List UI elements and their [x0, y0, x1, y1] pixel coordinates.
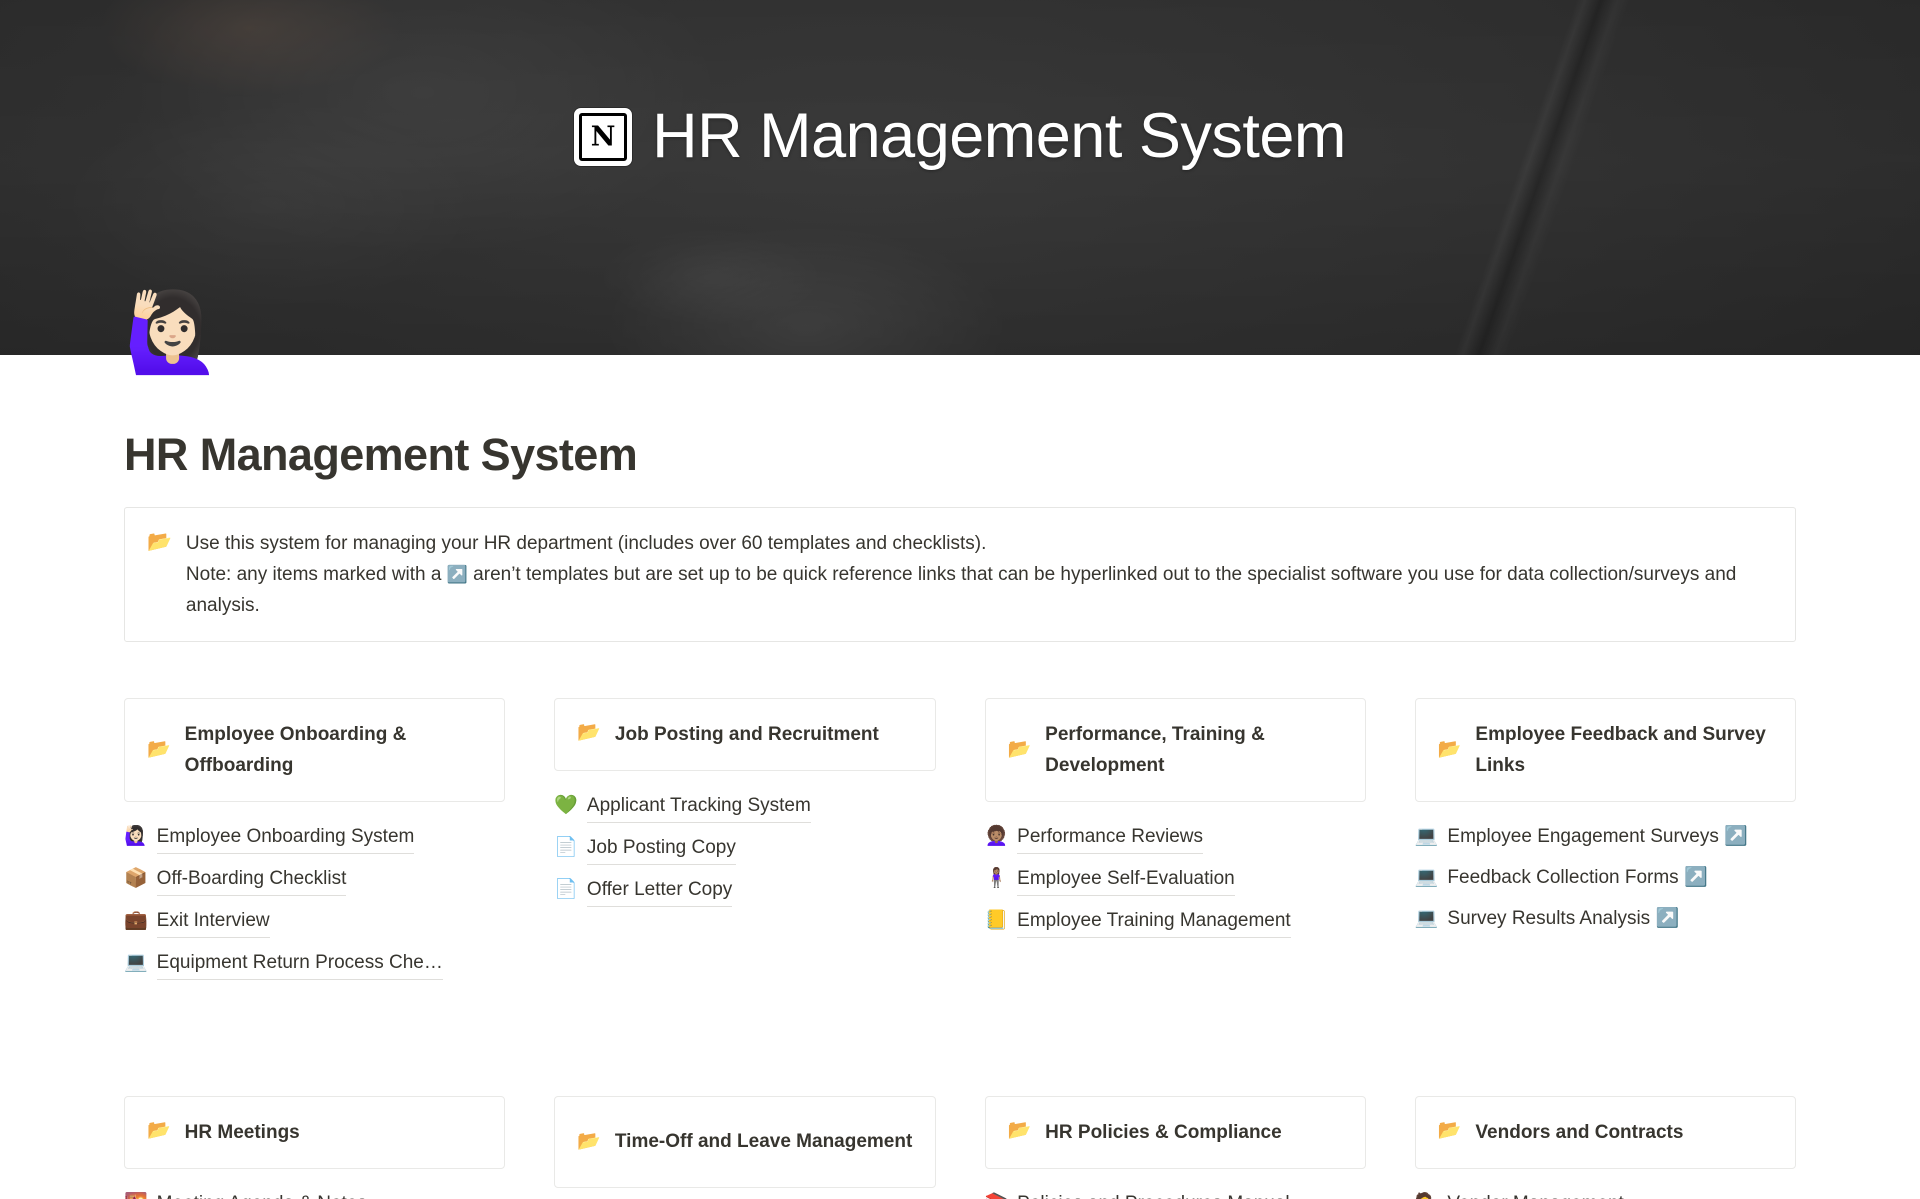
item-emoji-icon: 📒 — [985, 905, 1009, 937]
section-card-hr-policies-compliance[interactable]: 📂HR Policies & Compliance — [985, 1096, 1366, 1169]
row-spacer — [1415, 984, 1796, 1096]
page-link-applicant-tracking-system[interactable]: Applicant Tracking System — [587, 790, 811, 823]
section-block-time-off-and-leave-management: 📂Time-Off and Leave Management — [554, 1096, 935, 1199]
section-link-list: 🌇Meeting Agenda & Notes — [124, 1169, 505, 1199]
section-block-vendors-and-contracts: 📂Vendors and Contracts💁Vendor Management — [1415, 1096, 1796, 1199]
callout-line-2-before: Note: any items marked with a — [186, 564, 447, 585]
page-emoji-icon[interactable]: 🙋🏻‍♀️ — [124, 293, 221, 371]
section-block-performance-training-development: 📂Performance, Training & Development👩🏽‍🦱… — [985, 698, 1366, 984]
item-emoji-icon: 🙋🏻‍♀️ — [124, 821, 148, 853]
section-block-employee-onboarding-offboarding: 📂Employee Onboarding & Offboarding🙋🏻‍♀️E… — [124, 698, 505, 984]
folder-icon: 📂 — [1438, 1117, 1462, 1144]
section-card-employee-feedback-and-survey-links[interactable]: 📂Employee Feedback and Survey Links — [1415, 698, 1796, 802]
section-card-time-off-and-leave-management[interactable]: 📂Time-Off and Leave Management — [554, 1096, 935, 1188]
section-card-job-posting-and-recruitment[interactable]: 📂Job Posting and Recruitment — [554, 698, 935, 771]
page-link-employee-onboarding-system[interactable]: Employee Onboarding System — [157, 821, 415, 854]
item-emoji-icon: 📚 — [985, 1188, 1009, 1199]
page-link-feedback-collection-forms[interactable]: Feedback Collection Forms ↗️ — [1447, 862, 1707, 894]
cover-title: HR Management System — [652, 105, 1346, 168]
section-link-list: 💚Applicant Tracking System📄Job Posting C… — [554, 771, 935, 911]
cover-overlay — [0, 0, 1920, 355]
list-item[interactable]: 📄Job Posting Copy — [554, 827, 935, 869]
section-card-title: Vendors and Contracts — [1475, 1117, 1683, 1148]
page-link-exit-interview[interactable]: Exit Interview — [157, 905, 270, 938]
row-spacer — [554, 984, 935, 1096]
folder-icon: 📂 — [1008, 1117, 1032, 1144]
item-emoji-icon: 💁 — [1415, 1188, 1439, 1199]
item-emoji-icon: 💻 — [1415, 903, 1439, 935]
section-link-list: 👩🏽‍🦱Performance Reviews🧍🏽‍♀️Employee Sel… — [985, 802, 1366, 942]
item-emoji-icon: 📄 — [554, 832, 578, 864]
page-link-employee-engagement-surveys[interactable]: Employee Engagement Surveys ↗️ — [1447, 821, 1747, 853]
section-link-list: 🙋🏻‍♀️Employee Onboarding System📦Off-Boar… — [124, 802, 505, 984]
section-link-list: 💁Vendor Management — [1415, 1169, 1796, 1199]
list-item[interactable]: 💻Feedback Collection Forms ↗️ — [1415, 857, 1796, 898]
list-item[interactable]: 📒Employee Training Management — [985, 900, 1366, 942]
page-link-employee-self-evaluation[interactable]: Employee Self-Evaluation — [1017, 863, 1235, 896]
item-emoji-icon: 💻 — [124, 947, 148, 979]
page-link-off-boarding-checklist[interactable]: Off-Boarding Checklist — [157, 863, 347, 896]
page-title: HR Management System — [124, 429, 1796, 481]
item-emoji-icon: 👩🏽‍🦱 — [985, 821, 1009, 853]
notion-logo-icon: N — [574, 108, 632, 166]
section-link-list: 📚Policies and Procedures Manual — [985, 1169, 1366, 1199]
page-link-performance-reviews[interactable]: Performance Reviews — [1017, 821, 1203, 854]
folder-icon: 📂 — [1438, 736, 1462, 763]
page-link-equipment-return-process-che[interactable]: Equipment Return Process Che… — [157, 947, 443, 980]
list-item[interactable]: 🧍🏽‍♀️Employee Self-Evaluation — [985, 858, 1366, 900]
folder-icon: 📂 — [577, 719, 601, 746]
page-link-employee-training-management[interactable]: Employee Training Management — [1017, 905, 1291, 938]
callout-line-1: Use this system for managing your HR dep… — [186, 528, 1775, 559]
list-item[interactable]: 💁Vendor Management — [1415, 1183, 1796, 1199]
intro-callout: 📂 Use this system for managing your HR d… — [124, 507, 1796, 642]
section-block-job-posting-and-recruitment: 📂Job Posting and Recruitment💚Applicant T… — [554, 698, 935, 984]
folder-icon: 📂 — [147, 1117, 171, 1144]
cover-title-group: N HR Management System — [0, 105, 1920, 168]
page-link-survey-results-analysis[interactable]: Survey Results Analysis ↗️ — [1447, 903, 1679, 935]
section-card-title: Performance, Training & Development — [1045, 719, 1345, 781]
row-spacer — [985, 984, 1366, 1096]
section-card-performance-training-development[interactable]: 📂Performance, Training & Development — [985, 698, 1366, 802]
page-body: 🙋🏻‍♀️ HR Management System 📂 Use this sy… — [0, 355, 1920, 1199]
list-item[interactable]: 💼Exit Interview — [124, 900, 505, 942]
page-link-meeting-agenda-notes[interactable]: Meeting Agenda & Notes — [157, 1188, 367, 1199]
page-link-offer-letter-copy[interactable]: Offer Letter Copy — [587, 874, 732, 907]
list-item[interactable]: 🙋🏻‍♀️Employee Onboarding System — [124, 816, 505, 858]
list-item[interactable]: 💚Applicant Tracking System — [554, 785, 935, 827]
item-emoji-icon: 📦 — [124, 863, 148, 895]
list-item[interactable]: 💻Equipment Return Process Che… — [124, 942, 505, 984]
folder-icon: 📂 — [577, 1128, 601, 1155]
page-link-job-posting-copy[interactable]: Job Posting Copy — [587, 832, 736, 865]
list-item[interactable]: 👩🏽‍🦱Performance Reviews — [985, 816, 1366, 858]
list-item[interactable]: 📄Offer Letter Copy — [554, 869, 935, 911]
external-link-icon: ↗️ — [447, 565, 468, 584]
section-card-hr-meetings[interactable]: 📂HR Meetings — [124, 1096, 505, 1169]
section-card-vendors-and-contracts[interactable]: 📂Vendors and Contracts — [1415, 1096, 1796, 1169]
callout-line-2: Note: any items marked with a ↗️ aren’t … — [186, 559, 1775, 621]
list-item[interactable]: 💻Employee Engagement Surveys ↗️ — [1415, 816, 1796, 857]
item-emoji-icon: 💻 — [1415, 862, 1439, 894]
section-link-list — [554, 1188, 935, 1199]
row-spacer — [124, 984, 505, 1096]
list-item[interactable]: 📚Policies and Procedures Manual — [985, 1183, 1366, 1199]
list-item[interactable]: 🌇Meeting Agenda & Notes — [124, 1183, 505, 1199]
folder-icon: 📂 — [1008, 736, 1032, 763]
notion-logo-letter: N — [574, 123, 632, 150]
folder-icon: 📂 — [147, 736, 171, 763]
item-emoji-icon: 💻 — [1415, 821, 1439, 853]
folder-icon: 📂 — [147, 528, 172, 621]
item-emoji-icon: 💚 — [554, 790, 578, 822]
page-content: HR Management System 📂 Use this system f… — [0, 355, 1920, 1199]
section-block-hr-policies-compliance: 📂HR Policies & Compliance📚Policies and P… — [985, 1096, 1366, 1199]
page-link-vendor-management[interactable]: Vendor Management — [1447, 1188, 1623, 1199]
section-card-title: Job Posting and Recruitment — [615, 719, 879, 750]
page-link-policies-and-procedures-manual[interactable]: Policies and Procedures Manual — [1017, 1188, 1290, 1199]
list-item[interactable]: 📦Off-Boarding Checklist — [124, 858, 505, 900]
section-card-title: Employee Onboarding & Offboarding — [185, 719, 485, 781]
section-card-title: HR Meetings — [185, 1117, 300, 1148]
section-card-title: Time-Off and Leave Management — [615, 1126, 912, 1157]
section-link-list: 💻Employee Engagement Surveys ↗️💻Feedback… — [1415, 802, 1796, 939]
section-card-title: Employee Feedback and Survey Links — [1475, 719, 1775, 781]
section-block-employee-feedback-and-survey-links: 📂Employee Feedback and Survey Links💻Empl… — [1415, 698, 1796, 984]
item-emoji-icon: 📄 — [554, 874, 578, 906]
intro-callout-text: Use this system for managing your HR dep… — [186, 528, 1775, 621]
section-grid: 📂Employee Onboarding & Offboarding🙋🏻‍♀️E… — [124, 698, 1796, 1199]
item-emoji-icon: 💼 — [124, 905, 148, 937]
section-block-hr-meetings: 📂HR Meetings🌇Meeting Agenda & Notes — [124, 1096, 505, 1199]
list-item[interactable]: 💻Survey Results Analysis ↗️ — [1415, 898, 1796, 939]
item-emoji-icon: 🌇 — [124, 1188, 148, 1199]
section-card-employee-onboarding-offboarding[interactable]: 📂Employee Onboarding & Offboarding — [124, 698, 505, 802]
page-cover: N HR Management System — [0, 0, 1920, 355]
section-card-title: HR Policies & Compliance — [1045, 1117, 1282, 1148]
item-emoji-icon: 🧍🏽‍♀️ — [985, 863, 1009, 895]
